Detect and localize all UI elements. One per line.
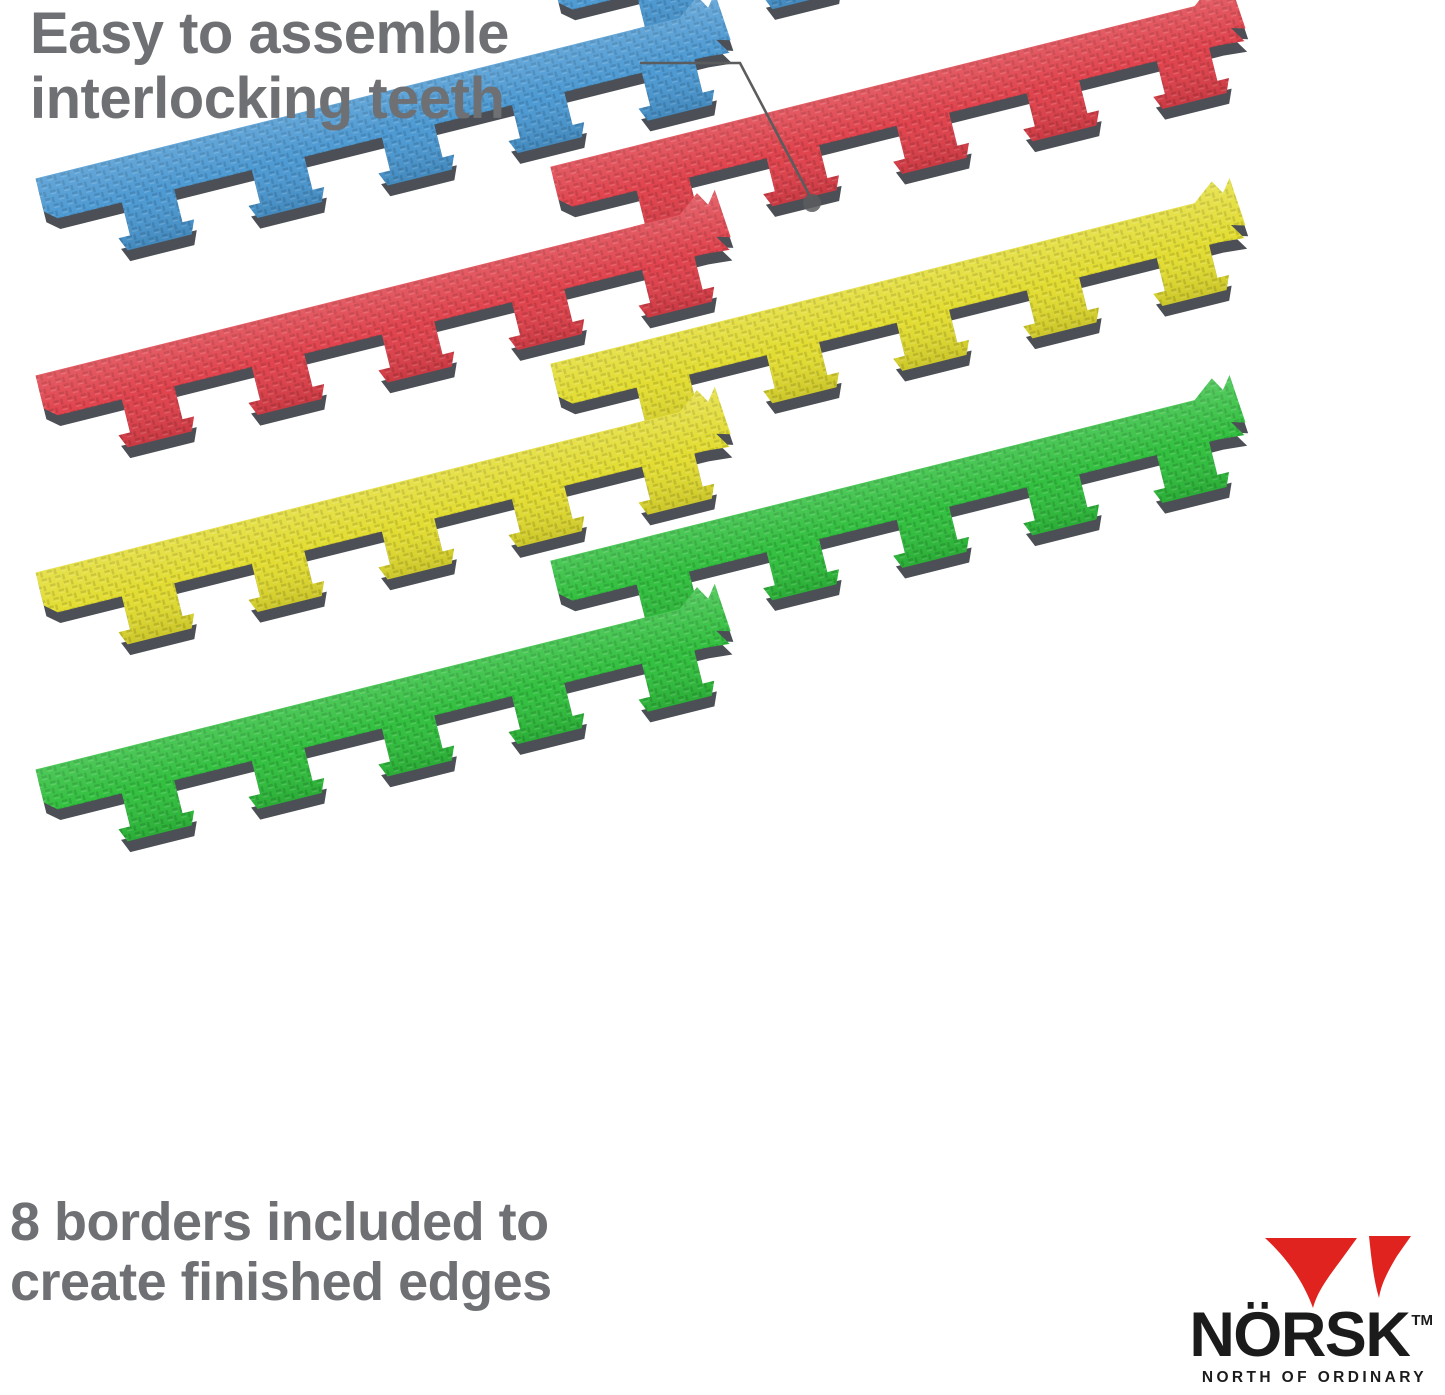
product-marketing-image: Easy to assemble interlocking teeth 8 bo… — [0, 0, 1445, 1395]
foam-strips-group — [0, 0, 1445, 1395]
foam-strips-canvas — [0, 0, 1445, 1395]
norsk-wordmark: NÖRSK — [1189, 1306, 1409, 1366]
brand-logo: NÖRSK TM NORTH OF ORDINARY — [1103, 1228, 1433, 1387]
trademark-symbol: TM — [1411, 1312, 1433, 1329]
norsk-wordmark-row: NÖRSK TM — [1103, 1306, 1433, 1366]
swoosh-shape-large — [1265, 1238, 1357, 1308]
bottom-callout-text: 8 borders included to create finished ed… — [10, 1192, 552, 1313]
swoosh-shape-small — [1369, 1236, 1411, 1298]
brand-tagline: NORTH OF ORDINARY — [1103, 1369, 1427, 1387]
top-callout-text: Easy to assemble interlocking teeth — [30, 2, 509, 132]
norsk-swoosh-icon — [1261, 1228, 1429, 1310]
